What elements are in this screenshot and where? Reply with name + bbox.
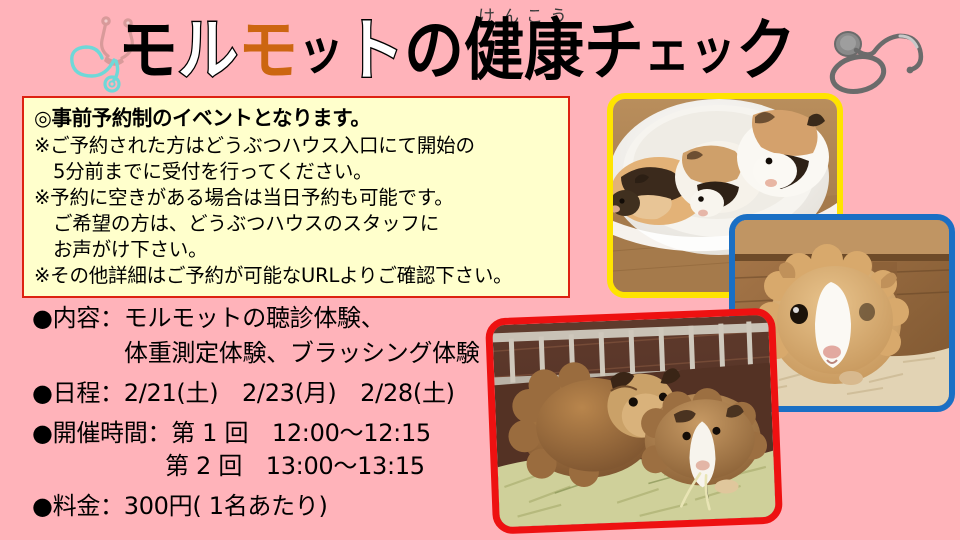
notice-line-3: ※予約に空きがある場合は当日予約も可能です。 (34, 185, 560, 211)
notice-line-1: ※ご予約された方はどうぶつハウス入口にて開始の (34, 133, 560, 159)
notice-line-0: ◎事前予約制のイベントとなります。 (34, 105, 560, 132)
stethoscope-right-icon (822, 22, 934, 102)
title-char-11: ク (736, 17, 796, 84)
title-char-5: の (404, 17, 464, 84)
title-area: けんこう モ ル モ ッ ト の 健 康 チ ェ ッ ク (0, 0, 960, 96)
event-poster: けんこう モ ル モ ッ ト の 健 康 チ ェ ッ ク (0, 0, 960, 540)
notice-box: ◎事前予約制のイベントとなります。 ※ご予約された方はどうぶつハウス入口にて開始… (22, 96, 570, 298)
photo-guinea-pig-pair (485, 308, 783, 535)
title-char-2: モ (238, 17, 298, 84)
notice-line-4: ご希望の方は、どうぶつハウスのスタッフに (34, 211, 560, 237)
notice-line-2: 5分前までに受付を行ってください。 (34, 159, 560, 185)
title-char-4: ト (344, 17, 404, 84)
title-char-10: ッ (690, 25, 736, 77)
title-char-6: 健 (464, 17, 524, 84)
title-char-3: ッ (298, 25, 344, 77)
notice-line-6: ※その他詳細はご予約が可能なURLよりご確認下さい。 (34, 263, 560, 289)
page-title: モ ル モ ッ ト の 健 康 チ ェ ッ ク (118, 12, 796, 90)
notice-line-5: お声がけ下さい。 (34, 237, 560, 263)
title-char-7: 康 (524, 17, 584, 84)
title-char-9: ェ (644, 25, 690, 77)
title-char-1: ル (178, 17, 238, 84)
title-char-0: モ (118, 17, 178, 84)
title-char-8: チ (584, 17, 644, 84)
